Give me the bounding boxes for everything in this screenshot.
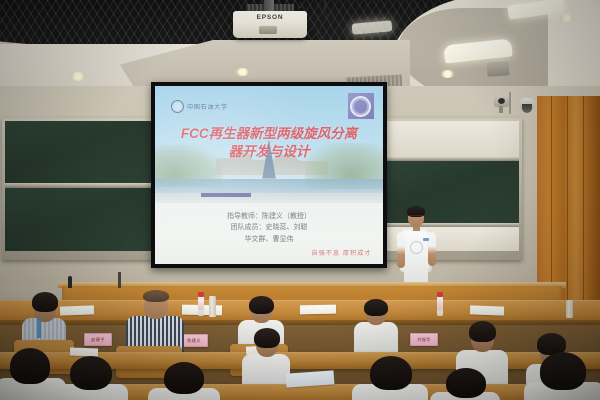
slide-title: FCC再生器新型两级旋风分离 器开发与设计: [166, 125, 371, 161]
bottle-label: [198, 302, 204, 310]
camera-conduit: [509, 92, 511, 114]
audience-member: [54, 356, 128, 400]
audience-hair: [10, 348, 50, 384]
desk-microphone: [68, 276, 72, 288]
blackboard-right: [370, 118, 522, 260]
audience-member: [430, 368, 500, 400]
audience-member: [352, 356, 428, 400]
recessed-downlight: [440, 70, 455, 78]
handout-papers: [300, 305, 336, 315]
name-card: 刘振华: [410, 333, 438, 346]
audience-hair: [254, 328, 280, 348]
camera-bracket: [499, 106, 503, 113]
presenter-student: [396, 208, 436, 290]
name-card-text: 刘振华: [417, 337, 430, 343]
tshirt-sleeve-tag: [423, 238, 429, 241]
university-name-label: 中国石油大学: [187, 102, 228, 111]
slide-credit-team-1: 团队成员：史晓蕊、刘聪: [173, 222, 365, 234]
audience-hair: [540, 352, 586, 390]
audience-hair: [370, 356, 412, 390]
blackboard-panel-lower: [5, 188, 151, 251]
projector-lens: [259, 26, 277, 34]
slide-credit-team-2: 华文群、曹显伟: [173, 234, 365, 246]
slide-credits: 指导教师：陈建义（教授） 团队成员：史晓蕊、刘聪 华文群、曹显伟: [173, 211, 365, 247]
wood-panel-seam: [567, 96, 568, 302]
recessed-downlight: [70, 72, 86, 81]
bottle-label: [437, 302, 443, 310]
camera-lens-icon: [498, 98, 505, 104]
audience-hair: [469, 321, 496, 342]
judging-panel-desk-edge: [0, 320, 600, 325]
audience-hair: [70, 356, 112, 390]
slide-accent-bar: [201, 193, 251, 197]
audience-member: [148, 362, 220, 400]
wood-panel-seam: [583, 96, 584, 302]
projected-slide: 中国石油大学 FCC再生器新型两级旋风分离 器开发与设计 指导教师：陈建义（教授…: [155, 86, 383, 264]
presenter-arm-left: [397, 232, 405, 268]
name-card: 赵建平: [84, 333, 112, 346]
slide-title-line-2: 器开发与设计: [166, 143, 371, 161]
bottle-cap: [198, 292, 204, 297]
presenter-arm-right: [428, 232, 436, 266]
blackboard-left: [2, 118, 154, 260]
audience-hair: [164, 362, 204, 394]
judge-hair: [143, 290, 169, 302]
audience-hair: [364, 299, 388, 316]
whiteboard-panel: [373, 121, 519, 157]
wall-speaker: [487, 61, 510, 77]
whiteboard-panel-lower: [373, 227, 519, 251]
audience-hair: [446, 368, 486, 398]
audience-member: [240, 330, 292, 386]
eyeglasses-icon: [408, 215, 424, 220]
judge-hair: [32, 292, 58, 312]
name-card-text: 赵建平: [91, 337, 104, 343]
travel-mug: [209, 296, 216, 317]
slide-title-line-1: FCC再生器新型两级旋风分离: [166, 125, 371, 143]
slide-footer-motto: 自强不息 厚积成才: [311, 248, 371, 257]
wood-wall-panel: [537, 96, 600, 302]
slide-university-logo: 中国石油大学: [171, 100, 228, 113]
tshirt-graphic-icon: [410, 241, 423, 254]
lecture-hall-scene: EPSON 中国石油大学 FCC再生器新型两级旋风分离 器开发与设计: [0, 0, 600, 400]
slide-emblem-badge: [348, 93, 374, 119]
lanyard: [37, 318, 41, 338]
handout-papers: [470, 305, 504, 315]
blackboard-panel: [373, 161, 519, 223]
wood-panel-seam: [551, 96, 552, 302]
travel-mug: [566, 300, 573, 318]
bottle-cap: [437, 292, 443, 297]
audience-member: [524, 352, 600, 400]
slide-credit-advisor: 指导教师：陈建义（教授）: [173, 211, 365, 223]
recessed-downlight: [560, 14, 574, 22]
name-card-text: 陈建义: [187, 338, 200, 344]
lectern-post: [118, 272, 121, 288]
recessed-downlight: [235, 68, 250, 76]
emblem-swirl-icon: [350, 96, 371, 117]
university-seal-icon: [171, 100, 184, 113]
blackboard-panel-upper: [5, 121, 151, 183]
projection-screen: 中国石油大学 FCC再生器新型两级旋风分离 器开发与设计 指导教师：陈建义（教授…: [151, 82, 387, 268]
judge-hair: [249, 296, 274, 314]
projector-brand-label: EPSON: [247, 14, 293, 21]
